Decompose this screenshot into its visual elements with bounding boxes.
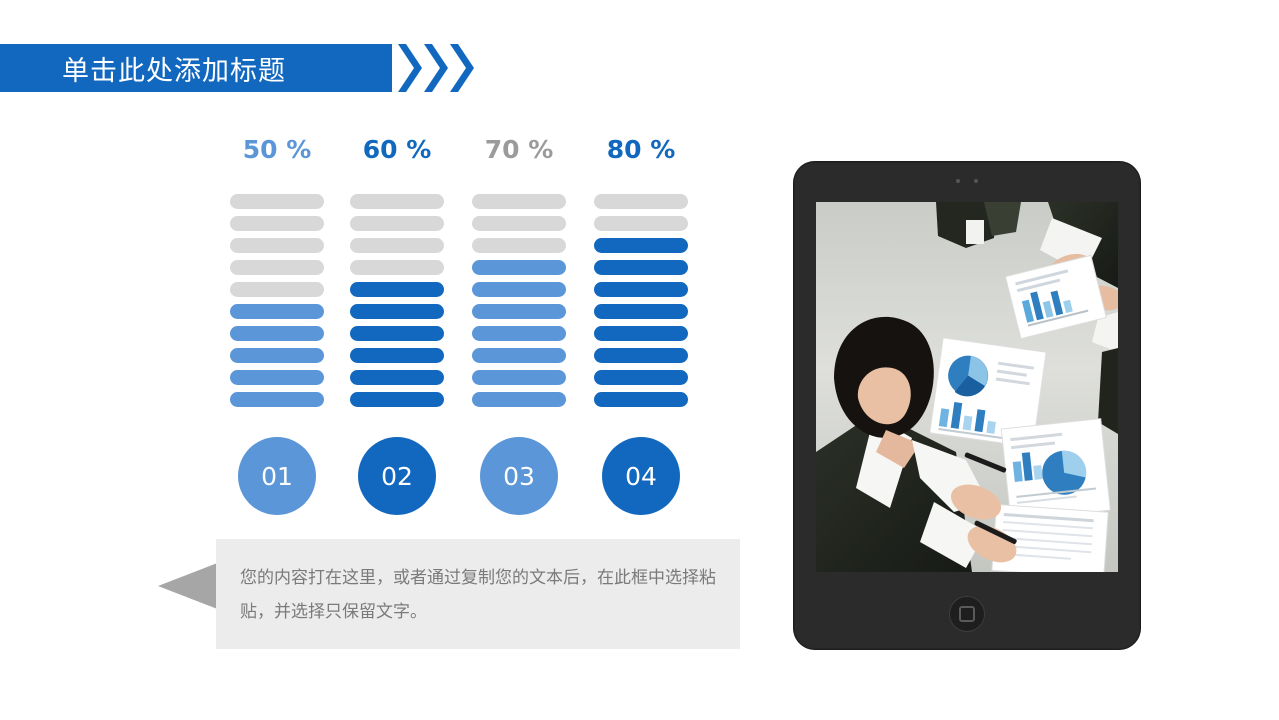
- bar-segment-filled: [472, 282, 566, 297]
- bar-segment-filled: [230, 392, 324, 407]
- column-badge-01: 01: [238, 437, 316, 515]
- bar-segment-empty: [594, 216, 688, 231]
- slide-title-banner: 单击此处添加标题: [0, 44, 392, 92]
- bar-segment-filled: [594, 370, 688, 385]
- column-value-label: 50 %: [216, 130, 338, 170]
- bar-segment-filled: [594, 326, 688, 341]
- meeting-photo: [816, 202, 1118, 572]
- bar-segment-filled: [594, 392, 688, 407]
- bar-segment-filled: [350, 282, 444, 297]
- segment-stack: [580, 194, 702, 407]
- segment-stack: [458, 194, 580, 407]
- bar-segment-empty: [350, 194, 444, 209]
- chart-column-03: 70 % 03: [458, 130, 580, 515]
- bar-segment-filled: [472, 392, 566, 407]
- chevron-right-icon: [424, 44, 448, 92]
- segment-stack: [336, 194, 458, 407]
- chart-column-04: 80 % 04: [580, 130, 702, 515]
- bar-segment-empty: [230, 282, 324, 297]
- bar-segment-filled: [230, 326, 324, 341]
- bar-segment-filled: [230, 370, 324, 385]
- chevron-right-icon: [398, 44, 422, 92]
- page-title: 单击此处添加标题: [62, 49, 286, 88]
- bar-segment-empty: [594, 194, 688, 209]
- bar-segment-filled: [472, 326, 566, 341]
- chart-column-01: 50 % 01: [216, 130, 338, 515]
- bar-segment-empty: [472, 216, 566, 231]
- bar-segment-filled: [350, 326, 444, 341]
- bar-segment-filled: [230, 304, 324, 319]
- bar-segment-filled: [350, 304, 444, 319]
- tablet-screen: [816, 202, 1118, 572]
- bar-segment-filled: [594, 304, 688, 319]
- tablet-device: [793, 161, 1141, 650]
- bar-segment-empty: [350, 260, 444, 275]
- bar-segment-empty: [230, 194, 324, 209]
- bar-segment-empty: [230, 260, 324, 275]
- bar-segment-filled: [472, 260, 566, 275]
- caption-box: 您的内容打在这里，或者通过复制您的文本后，在此框中选择粘贴，并选择只保留文字。: [216, 539, 740, 649]
- camera-icon: [956, 178, 978, 183]
- bar-segment-empty: [350, 216, 444, 231]
- bar-segment-filled: [594, 260, 688, 275]
- chevron-right-icon: [450, 44, 474, 92]
- bar-segment-filled: [472, 348, 566, 363]
- bar-segment-filled: [594, 238, 688, 253]
- bar-segment-empty: [350, 238, 444, 253]
- column-badge-03: 03: [480, 437, 558, 515]
- bar-segment-filled: [472, 304, 566, 319]
- home-button[interactable]: [949, 596, 985, 632]
- bar-segment-filled: [350, 392, 444, 407]
- bar-segment-filled: [472, 370, 566, 385]
- column-value-label: 80 %: [580, 130, 702, 170]
- bar-segment-filled: [594, 348, 688, 363]
- bar-segment-empty: [472, 194, 566, 209]
- caption-pointer-icon: [158, 562, 220, 610]
- bar-segment-empty: [230, 216, 324, 231]
- column-badge-02: 02: [358, 437, 436, 515]
- bar-chart: 50 % 01 60 % 02: [216, 130, 736, 550]
- caption-text: 您的内容打在这里，或者通过复制您的文本后，在此框中选择粘贴，并选择只保留文字。: [216, 539, 740, 629]
- bar-segment-empty: [230, 238, 324, 253]
- chevron-decoration: [398, 44, 494, 92]
- segment-stack: [216, 194, 338, 407]
- bar-segment-filled: [350, 370, 444, 385]
- chart-column-02: 60 % 02: [336, 130, 458, 515]
- bar-segment-filled: [350, 348, 444, 363]
- bar-segment-filled: [230, 348, 324, 363]
- column-badge-04: 04: [602, 437, 680, 515]
- column-value-label: 70 %: [458, 130, 580, 170]
- column-value-label: 60 %: [336, 130, 458, 170]
- bar-segment-empty: [472, 238, 566, 253]
- bar-segment-filled: [594, 282, 688, 297]
